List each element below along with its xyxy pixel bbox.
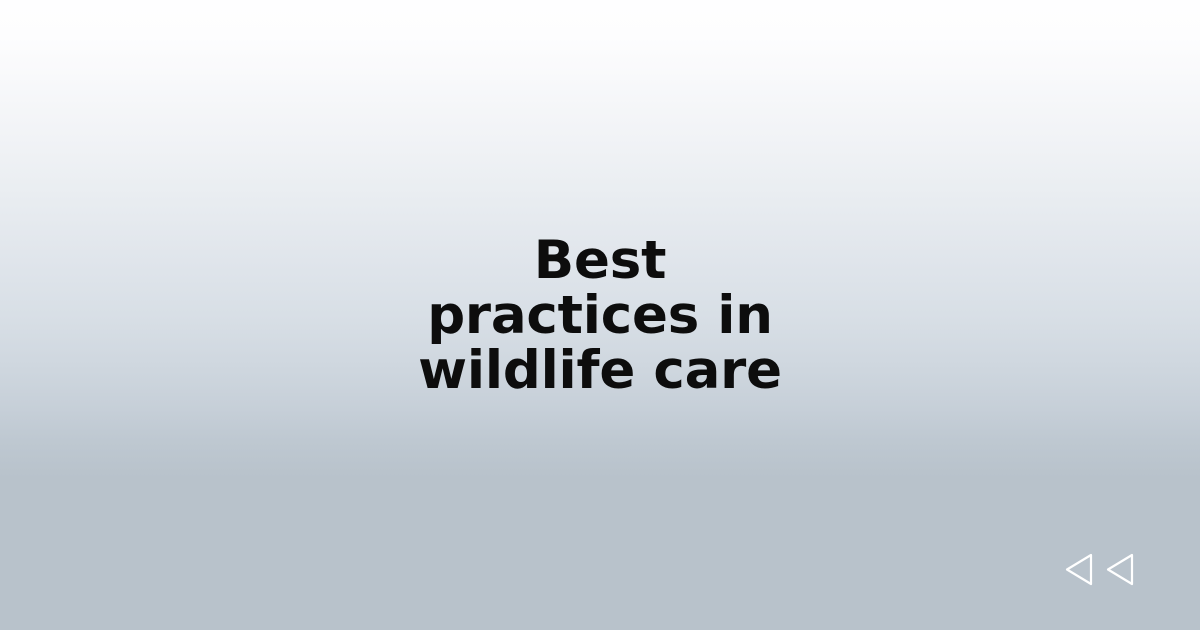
title-container: Best practices in wildlife care — [0, 0, 1200, 630]
page-title: Best practices in wildlife care — [380, 233, 820, 398]
nav-controls — [1065, 553, 1134, 586]
share-card: Best practices in wildlife care — [0, 0, 1200, 630]
triangle-left-outline-icon[interactable] — [1106, 553, 1134, 586]
triangle-left-outline-icon[interactable] — [1065, 553, 1093, 586]
